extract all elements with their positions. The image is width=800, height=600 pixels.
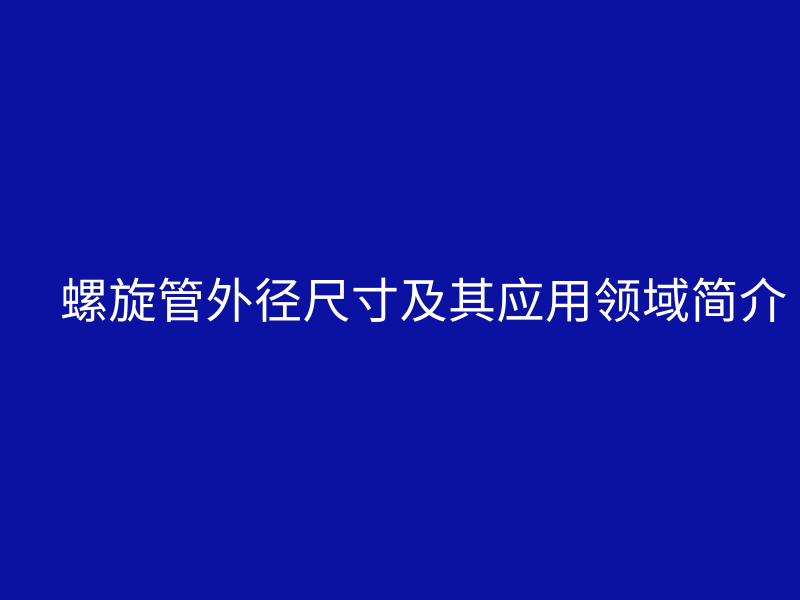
slide-canvas: 螺旋管外径尺寸及其应用领域简介 <box>0 0 800 600</box>
headline-block: 螺旋管外径尺寸及其应用领域简介 <box>0 0 800 600</box>
page-title: 螺旋管外径尺寸及其应用领域简介 <box>0 279 788 327</box>
